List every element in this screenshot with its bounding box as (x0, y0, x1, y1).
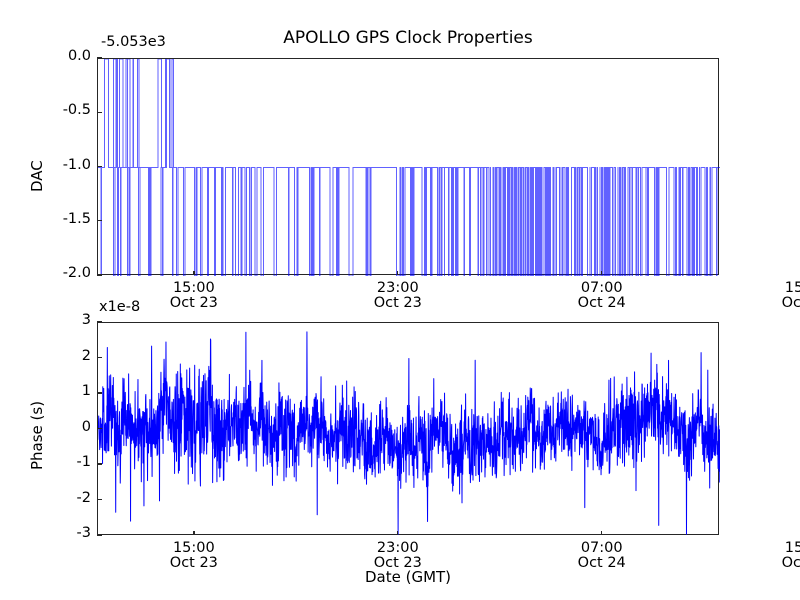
xtick-label: 15:00 Oct 23 (139, 281, 249, 311)
xtick-label: 15:00 Oct 24 (751, 541, 800, 571)
ytick-label: 1 (35, 384, 91, 399)
ytick-label: 0 (35, 420, 91, 435)
xtick-label: 15:00 Oct 24 (751, 281, 800, 311)
xtick-mark (601, 271, 602, 276)
xtick-mark (397, 531, 398, 536)
phase-axes (97, 322, 719, 535)
xtick-label: 23:00 Oct 23 (343, 281, 453, 311)
ytick-mark (97, 499, 102, 500)
xtick-label: 15:00 Oct 23 (139, 541, 249, 571)
phase-offset-text: x1e-8 (99, 300, 140, 315)
ytick-mark (97, 220, 102, 221)
ytick-mark (97, 166, 102, 167)
ytick-mark (97, 57, 102, 58)
figure-canvas: APOLLO GPS Clock Properties -5.053e3 DAC… (0, 0, 800, 600)
ytick-mark (97, 274, 102, 275)
xtick-label: 07:00 Oct 24 (547, 541, 657, 571)
xtick-mark (397, 271, 398, 276)
xtick-label: 23:00 Oct 23 (343, 541, 453, 571)
xtick-mark (193, 531, 194, 536)
ytick-mark (97, 392, 102, 393)
ytick-label: -1.5 (35, 212, 91, 227)
chart-title: APOLLO GPS Clock Properties (208, 30, 608, 48)
phase-plot-lines (98, 323, 720, 536)
phase-xlabel: Date (GMT) (308, 570, 508, 586)
xtick-label: 07:00 Oct 24 (547, 281, 657, 311)
xtick-mark (601, 531, 602, 536)
ytick-label: -2 (35, 491, 91, 506)
ytick-label: -3 (35, 526, 91, 541)
dac-axes (97, 58, 719, 275)
ytick-mark (97, 428, 102, 429)
ytick-mark (97, 357, 102, 358)
ytick-label: 0.0 (35, 49, 91, 64)
dac-offset-text: -5.053e3 (101, 35, 166, 50)
ytick-label: 2 (35, 349, 91, 364)
ytick-label: -2.0 (35, 266, 91, 281)
ytick-mark (97, 463, 102, 464)
ytick-label: -0.5 (35, 103, 91, 118)
ytick-label: -1 (35, 455, 91, 470)
ytick-mark (97, 534, 102, 535)
dac-plot-lines (98, 59, 720, 276)
ytick-label: -1.0 (35, 158, 91, 173)
ytick-label: 3 (35, 313, 91, 328)
xtick-mark (193, 271, 194, 276)
ytick-mark (97, 112, 102, 113)
ytick-mark (97, 321, 102, 322)
